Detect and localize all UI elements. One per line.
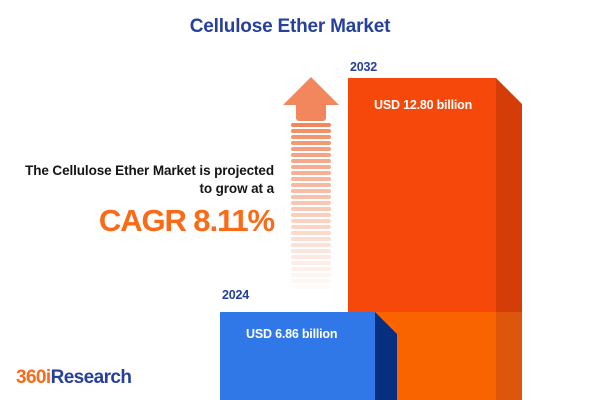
- arrow-stripes: [291, 123, 331, 296]
- brand-logo-360i: 360i: [16, 367, 51, 388]
- arrow-stripe: [291, 141, 331, 145]
- bar-2032-lower-side-face: [496, 312, 522, 400]
- arrow-stripe: [291, 123, 331, 127]
- arrow-stripe: [291, 207, 331, 211]
- cagr-block: The Cellulose Ether Market is projected …: [22, 162, 274, 238]
- arrow-stripe: [291, 129, 331, 133]
- arrow-stripe: [291, 243, 331, 247]
- arrow-stripe: [291, 225, 331, 229]
- arrow-stripe: [291, 291, 331, 295]
- cagr-statement: The Cellulose Ether Market is projected …: [22, 162, 274, 198]
- bar-value-2024: USD 6.86 billion: [246, 327, 337, 341]
- arrow-stripe: [291, 219, 331, 223]
- arrow-stripe: [291, 279, 331, 283]
- up-arrow-icon: [282, 76, 340, 296]
- bar-2024-bevel: [375, 312, 397, 334]
- arrow-head-icon: [282, 76, 340, 122]
- year-label-2024: 2024: [222, 288, 249, 302]
- infographic-canvas: Cellulose Ether Market The Cellulose Eth…: [0, 0, 600, 400]
- arrow-stripe: [291, 261, 331, 265]
- arrow-stripe: [291, 273, 331, 277]
- arrow-stripe: [291, 237, 331, 241]
- arrow-stripe: [291, 249, 331, 253]
- arrow-stripe: [291, 183, 331, 187]
- brand-logo-research: Research: [51, 367, 132, 388]
- bar-2024-side-face: [375, 334, 397, 400]
- page-title: Cellulose Ether Market: [0, 16, 580, 38]
- arrow-stripe: [291, 213, 331, 217]
- arrow-stripe: [291, 285, 331, 289]
- arrow-stripe: [291, 177, 331, 181]
- arrow-stripe: [291, 147, 331, 151]
- arrow-stripe: [291, 159, 331, 163]
- arrow-stripe: [291, 171, 331, 175]
- arrow-stripe: [291, 153, 331, 157]
- year-label-2032: 2032: [350, 60, 377, 74]
- bar-value-2032: USD 12.80 billion: [374, 98, 472, 112]
- arrow-stripe: [291, 135, 331, 139]
- arrow-stripe: [291, 255, 331, 259]
- bar-2032-bevel: [496, 78, 522, 104]
- arrow-stripe: [291, 165, 331, 169]
- arrow-stripe: [291, 195, 331, 199]
- bar-2024-front-face: [220, 312, 375, 400]
- arrow-stripe: [291, 231, 331, 235]
- cagr-value: CAGR 8.11%: [22, 204, 274, 238]
- arrow-stripe: [291, 267, 331, 271]
- arrow-stripe: [291, 201, 331, 205]
- brand-logo: 360iResearch: [16, 367, 131, 389]
- arrow-stripe: [291, 189, 331, 193]
